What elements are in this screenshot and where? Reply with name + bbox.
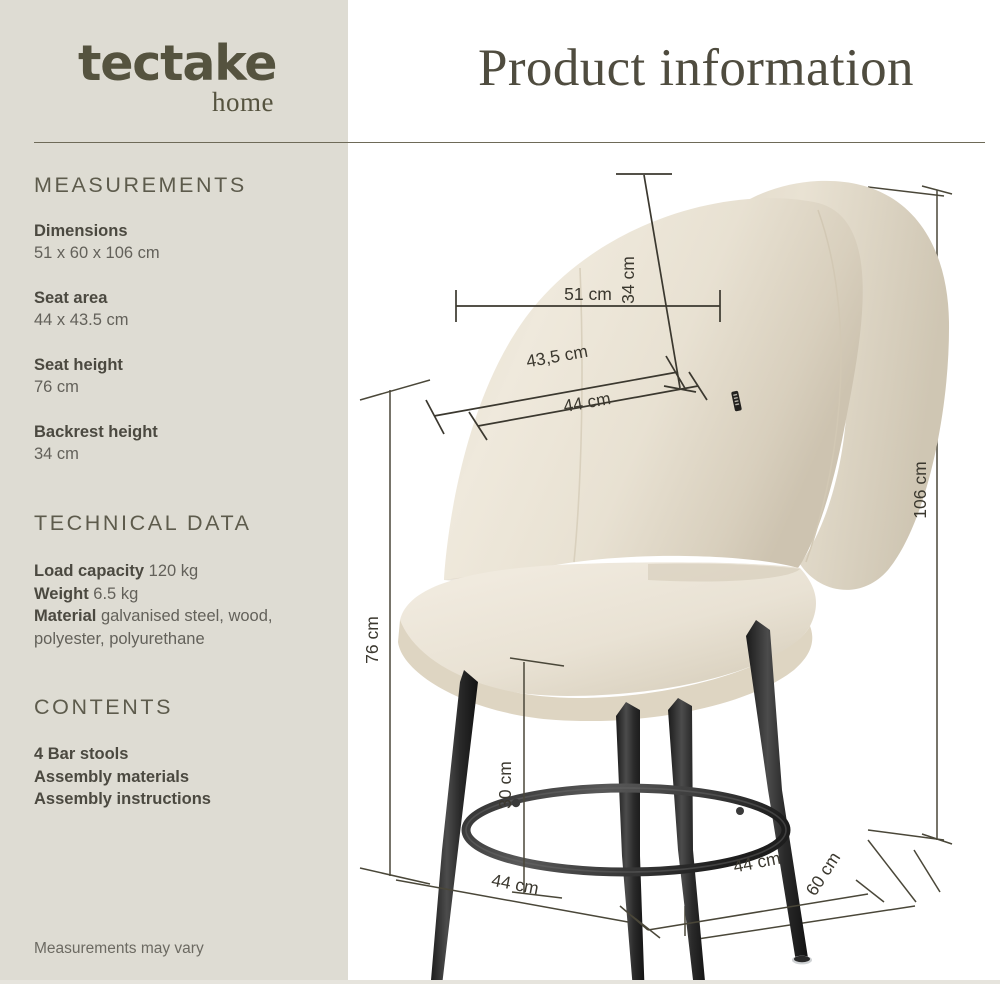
technical-data-heading: TECHNICAL DATA — [34, 511, 252, 536]
measure-label: Backrest height — [34, 421, 334, 443]
page-bottom-strip — [0, 980, 1000, 1000]
material-row: Material galvanised steel, wood, polyest… — [34, 605, 334, 650]
measurements-disclaimer: Measurements may vary — [34, 940, 204, 958]
dim-base-side: 44 cm — [732, 848, 783, 877]
dim-base-front: 44 cm — [490, 870, 541, 899]
measure-item-seat-area: Seat area 44 x 43.5 cm — [34, 287, 334, 331]
measure-value: 44 x 43.5 cm — [34, 309, 334, 331]
contents-item: Assembly materials — [34, 766, 334, 789]
measure-value: 34 cm — [34, 443, 334, 465]
load-capacity-value: 120 kg — [149, 562, 199, 580]
brand-logo: tectake home — [78, 38, 318, 116]
sidebar-panel — [0, 0, 348, 980]
load-capacity-row: Load capacity 120 kg — [34, 560, 334, 583]
measure-label: Seat height — [34, 354, 334, 376]
measure-value: 76 cm — [34, 376, 334, 398]
measure-item-seat-height: Seat height 76 cm — [34, 354, 334, 398]
contents-heading: CONTENTS — [34, 695, 173, 720]
dim-total-depth: 60 cm — [802, 848, 845, 899]
header-divider — [34, 142, 985, 143]
measurements-heading: MEASUREMENTS — [34, 173, 247, 198]
measure-label: Seat area — [34, 287, 334, 309]
measure-item-dimensions: Dimensions 51 x 60 x 106 cm — [34, 220, 334, 264]
contents-item: Assembly instructions — [34, 788, 334, 811]
product-information-sheet: tectake home MEASUREMENTS Dimensions 51 … — [0, 0, 1000, 1000]
contents-item: 4 Bar stools — [34, 743, 334, 766]
page-title: Product information — [478, 38, 914, 98]
weight-label: Weight — [34, 585, 89, 603]
weight-row: Weight 6.5 kg — [34, 583, 334, 606]
measure-item-backrest-height: Backrest height 34 cm — [34, 421, 334, 465]
material-label: Material — [34, 607, 96, 625]
brand-sub: home — [78, 88, 274, 116]
dim-backrest-width: 51 cm — [564, 284, 612, 304]
measure-label: Dimensions — [34, 220, 334, 242]
measure-value: 51 x 60 x 106 cm — [34, 242, 334, 264]
contents-list: 4 Bar stools Assembly materials Assembly… — [34, 743, 334, 811]
weight-value: 6.5 kg — [93, 585, 138, 603]
technical-data-block: Load capacity 120 kg Weight 6.5 kg Mater… — [34, 560, 334, 650]
product-illustration: 51 cm 34 cm 43,5 cm 44 cm 76 cm 30 cm 44… — [348, 150, 1000, 980]
load-capacity-label: Load capacity — [34, 562, 144, 580]
brand-name: tectake — [78, 38, 318, 90]
dim-backrest-height: 34 cm — [618, 256, 638, 304]
dim-seat-height: 76 cm — [362, 616, 382, 664]
dim-footrest-height: 30 cm — [495, 761, 515, 809]
dim-total-height: 106 cm — [910, 461, 930, 518]
